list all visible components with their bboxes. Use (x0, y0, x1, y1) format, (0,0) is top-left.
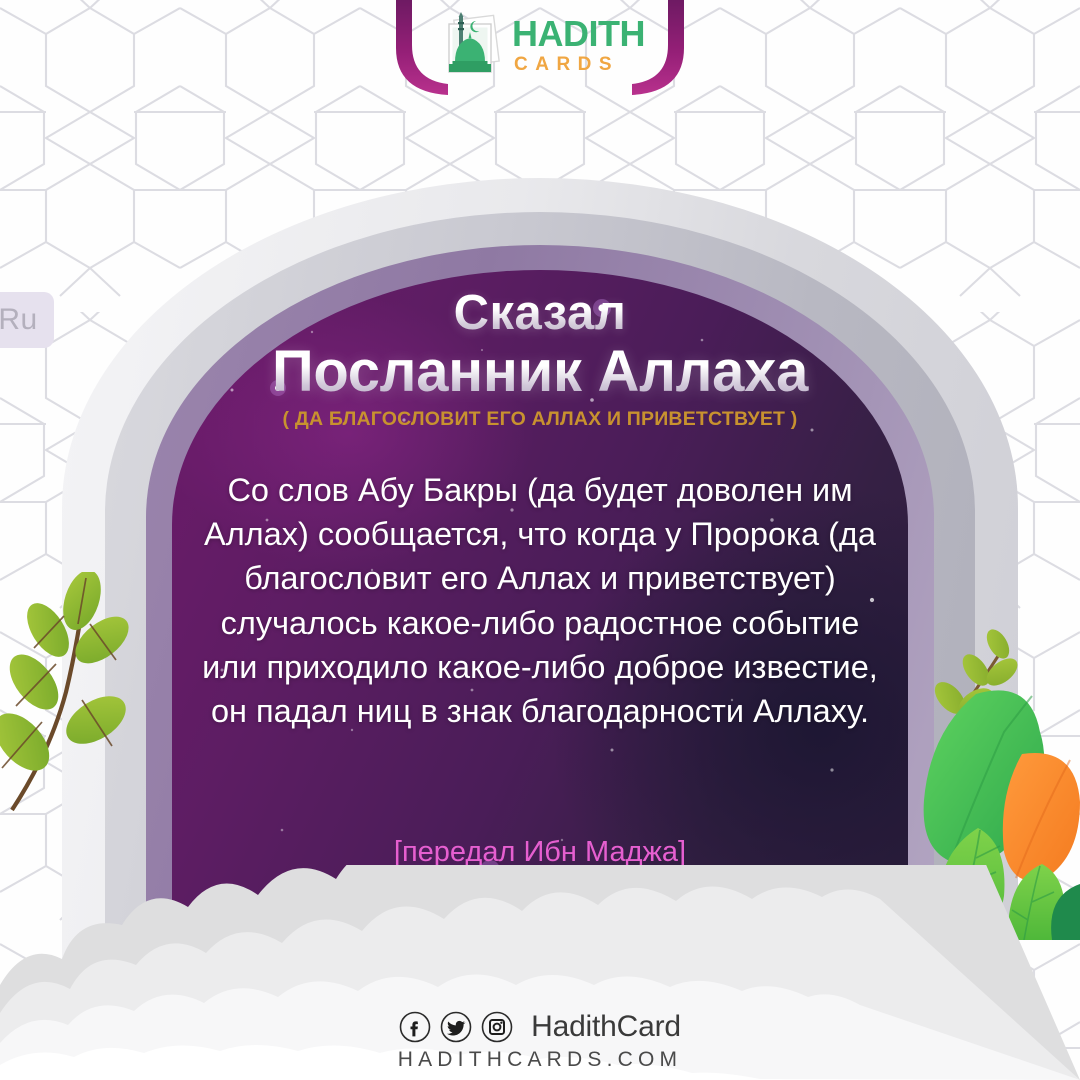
hadith-card: HADITH CARDS Ru (0, 0, 1080, 1080)
footer-website: HADITHCARDS.COM (398, 1048, 683, 1072)
mosque-photo-icon (443, 12, 505, 78)
facebook-icon[interactable] (399, 1011, 431, 1043)
instagram-icon[interactable] (481, 1011, 513, 1043)
language-badge[interactable]: Ru (0, 292, 54, 348)
headline-block: Сказал Посланник Аллаха ( ДА БЛАГОСЛОВИТ… (172, 288, 908, 431)
footer-social-row: HadithCard (399, 1010, 681, 1044)
brand-logo[interactable]: HADITH CARDS (443, 8, 653, 82)
footer-handle: HadithCard (531, 1010, 681, 1044)
logo-cards-text: CARDS (514, 55, 645, 74)
hadith-text: Со слов Абу Бакры (да будет доволен им А… (190, 468, 890, 733)
logo-hadith-text: HADITH (512, 16, 645, 52)
headline-line-1: Сказал (172, 288, 908, 339)
olive-branch-decoration (0, 572, 175, 812)
twitter-icon[interactable] (440, 1011, 472, 1043)
footer: HadithCard HADITHCARDS.COM (0, 1010, 1080, 1072)
headline-line-2: Посланник Аллаха (172, 341, 908, 404)
salutation-text: ( ДА БЛАГОСЛОВИТ ЕГО АЛЛАХ И ПРИВЕТСТВУЕ… (172, 408, 908, 431)
